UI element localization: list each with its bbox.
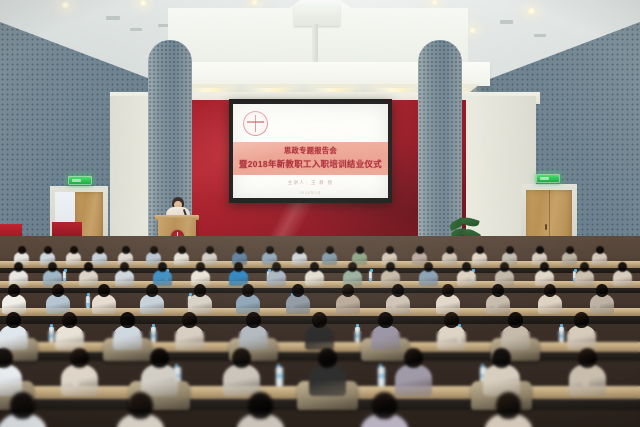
audience-member-head: [312, 312, 327, 328]
audience-member-torso: [140, 294, 164, 314]
audience-member-torso: [92, 294, 116, 314]
ceiling-downlight: [526, 8, 537, 14]
audience-member-torso: [239, 325, 269, 350]
audience-member-head: [444, 312, 459, 328]
ceiling-projector-housing: [294, 4, 340, 26]
audience-member-torso: [486, 294, 510, 314]
bottle-label: [49, 334, 54, 338]
audience-member-torso: [501, 325, 531, 350]
audience-member-torso: [483, 364, 521, 396]
audience-member-torso: [472, 252, 487, 265]
audience-member-torso: [309, 364, 347, 396]
bottle-label: [63, 278, 66, 282]
audience-member-torso: [202, 252, 217, 265]
audience-member-torso: [569, 364, 607, 396]
ceiling-downlight: [138, 0, 148, 6]
audience-member-head: [10, 392, 35, 419]
audience-member-head: [182, 312, 197, 328]
audience-member-head: [194, 284, 206, 297]
audience-member-head: [150, 246, 158, 254]
audience-member-torso: [322, 252, 337, 265]
audience-member-head: [318, 348, 337, 368]
audience-member-torso: [437, 325, 467, 350]
audience-member-torso: [575, 270, 594, 286]
audience-member-head: [96, 246, 104, 254]
audience-member-torso: [567, 325, 597, 350]
audience-member-torso: [395, 364, 433, 396]
projector-mount-stem: [312, 24, 318, 66]
slide-title-line1: 思政专题报告会: [233, 146, 388, 156]
ceiling-vent: [500, 20, 513, 24]
audience-member-head: [574, 312, 589, 328]
audience-member-torso: [538, 294, 562, 314]
audience-member-head: [146, 284, 158, 297]
audience-member-torso: [336, 294, 360, 314]
audience-member-head: [392, 284, 404, 297]
water-bottle: [559, 327, 564, 342]
audience-member-head: [206, 246, 214, 254]
audience-member-head: [446, 246, 454, 254]
audience-member-head: [372, 392, 397, 419]
audience-member-torso: [0, 364, 22, 396]
audience-member-torso: [457, 270, 476, 286]
ceiling-downlight: [250, 0, 259, 5]
audience-member-head: [596, 284, 608, 297]
audience-member-torso: [153, 270, 172, 286]
audience-member-torso: [188, 294, 212, 314]
audience-member-head: [544, 284, 556, 297]
audience-member-head: [6, 312, 21, 328]
audience-member-torso: [562, 252, 577, 265]
audience-member-torso: [436, 294, 460, 314]
audience-member-torso: [55, 325, 85, 350]
audience-seating-area: [0, 236, 640, 427]
audience-member-torso: [115, 270, 134, 286]
audience-member-head: [52, 284, 64, 297]
audience-member-head: [8, 284, 20, 297]
audience-member-head: [496, 392, 521, 419]
audience-member-torso: [174, 252, 189, 265]
slide-subtitle: 主讲人：王 教 授: [233, 180, 388, 186]
audience-member-head: [246, 312, 261, 328]
audience-member-head: [566, 246, 574, 254]
audience-member-torso: [590, 294, 614, 314]
audience-member-torso: [79, 270, 98, 286]
audience-member-head: [404, 348, 423, 368]
audience-member-torso: [613, 270, 632, 286]
audience-member-torso: [442, 252, 457, 265]
audience-member-torso: [66, 252, 81, 265]
projection-screen: 思政专题报告会 暨2018年新教职工入职培训结业仪式 主讲人：王 教 授 201…: [233, 104, 388, 198]
slide-footer: 2018年9月: [233, 190, 388, 195]
audience-member-head: [242, 284, 254, 297]
audience-member-head: [128, 392, 153, 419]
water-bottle: [369, 271, 372, 280]
audience-member-head: [232, 348, 251, 368]
audience-member-head: [326, 246, 334, 254]
audience-member-head: [236, 246, 244, 254]
audience-member-torso: [223, 364, 261, 396]
water-bottle: [355, 327, 360, 342]
audience-member-torso: [61, 364, 99, 396]
audience-member-head: [492, 348, 511, 368]
audience-member-head: [596, 246, 604, 254]
audience-member-head: [356, 246, 364, 254]
university-emblem-icon: [243, 111, 268, 136]
audience-member-torso: [267, 270, 286, 286]
audience-member-torso: [592, 252, 607, 265]
audience-member-torso: [371, 325, 401, 350]
audience-member-head: [292, 284, 304, 297]
auditorium-photo: 思政专题报告会 暨2018年新教职工入职培训结业仪式 主讲人：王 教 授 201…: [0, 0, 640, 427]
bottle-label: [355, 334, 360, 338]
audience-member-head: [120, 312, 135, 328]
bottle-label: [276, 374, 283, 378]
bottle-label: [369, 278, 372, 282]
exit-lamp: [537, 175, 559, 182]
audience-member-head: [122, 246, 130, 254]
exit-sign-right: [536, 174, 560, 183]
water-bottle: [63, 271, 66, 280]
audience-member-head: [266, 246, 274, 254]
audience-member-torso: [141, 364, 179, 396]
water-bottle: [378, 367, 385, 386]
audience-member-head: [150, 348, 169, 368]
bottle-label: [151, 334, 156, 338]
audience-member-torso: [113, 325, 143, 350]
audience-member-torso: [92, 252, 107, 265]
audience-member-head: [476, 246, 484, 254]
audience-member-torso: [305, 325, 335, 350]
audience-member-head: [70, 246, 78, 254]
bottle-label: [378, 374, 385, 378]
audience-member-torso: [46, 294, 70, 314]
ceiling-downlight: [430, 0, 439, 5]
audience-member-torso: [175, 325, 205, 350]
water-bottle: [86, 296, 90, 308]
audience-member-head: [416, 246, 424, 254]
ceiling-vent: [130, 28, 142, 31]
audience-member-head: [248, 392, 273, 419]
door-handle-right[interactable]: [545, 224, 547, 230]
audience-member-torso: [419, 270, 438, 286]
water-bottle: [276, 367, 283, 386]
audience-member-torso: [0, 325, 28, 350]
audience-member-head: [296, 246, 304, 254]
water-bottle: [151, 327, 156, 342]
ceiling-vent: [534, 34, 546, 37]
plant-leaf: [460, 215, 480, 228]
audience-member-torso: [292, 252, 307, 265]
ceiling-downlight: [60, 2, 71, 8]
ceiling-downlight: [468, 28, 477, 33]
audience-member-torso: [386, 294, 410, 314]
audience-member-head: [536, 246, 544, 254]
audience-member-torso: [236, 294, 260, 314]
exit-lamp: [69, 177, 91, 184]
water-bottle: [49, 327, 54, 342]
bottle-label: [86, 303, 90, 307]
bottle-label: [559, 334, 564, 338]
audience-member-head: [378, 312, 393, 328]
audience-member-head: [342, 284, 354, 297]
audience-member-head: [386, 246, 394, 254]
audience-member-head: [44, 246, 52, 254]
audience-member-head: [442, 284, 454, 297]
ceiling-vent: [106, 16, 120, 20]
audience-member-head: [492, 284, 504, 297]
audience-member-head: [178, 246, 186, 254]
audience-member-head: [506, 246, 514, 254]
audience-member-head: [98, 284, 110, 297]
audience-member-head: [18, 246, 26, 254]
audience-member-torso: [286, 294, 310, 314]
audience-member-head: [70, 348, 89, 368]
audience-member-torso: [305, 270, 324, 286]
audience-member-head: [508, 312, 523, 328]
slide-title-line2: 暨2018年新教职工入职培训结业仪式: [233, 159, 388, 170]
audience-member-head: [578, 348, 597, 368]
exit-sign-left: [68, 176, 92, 185]
audience-member-head: [62, 312, 77, 328]
